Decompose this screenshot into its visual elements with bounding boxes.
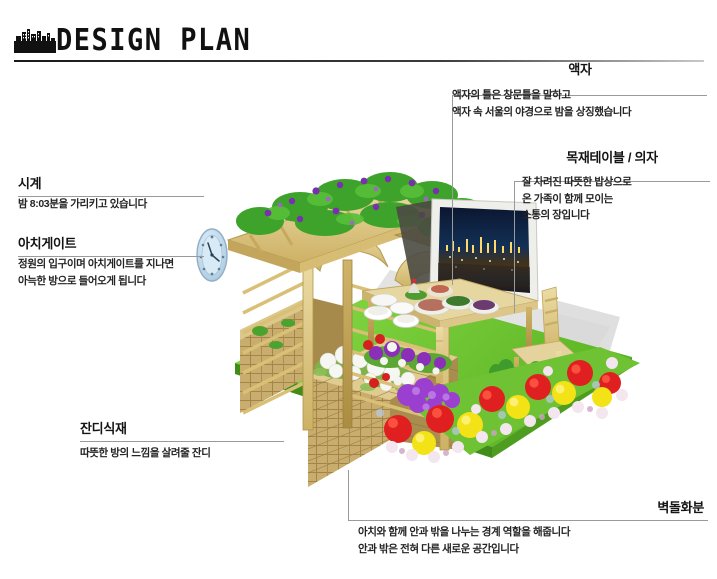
page-title: DESIGN PLAN <box>56 23 251 58</box>
annotation-lawn: 잔디식재 따뜻한 방의 느낌을 살려줄 잔디 <box>80 421 290 462</box>
city-skyline-icon <box>14 27 56 53</box>
annotation-brick-planter-body: 아치와 함께 안과 밖을 나누는 경계 역할을 해줍니다 안과 밖은 전혀 다른… <box>348 524 708 557</box>
annotation-clock-body: 밤 8:03분을 가리키고 있습니다 <box>18 196 208 212</box>
annotation-clock-heading: 시계 <box>18 176 208 192</box>
design-plan-slide: DESIGN PLAN <box>0 0 717 579</box>
annotation-picture-frame-body: 액자의 틀은 창문틀을 말하고 액자 속 서울의 야경으로 밤을 상징했습니다 <box>452 87 708 120</box>
annotation-wooden-table-body: 잘 차려진 따뜻한 밥상으로 온 가족이 함께 모이는 소통의 장입니다 <box>514 174 710 223</box>
annotation-brick-planter-heading: 벽돌화분 <box>348 500 708 516</box>
annotation-brick-planter: 벽돌화분 아치와 함께 안과 밖을 나누는 경계 역할을 해줍니다 안과 밖은 … <box>348 500 708 557</box>
annotation-clock: 시계 밤 8:03분을 가리키고 있습니다 <box>18 176 208 213</box>
annotation-arch-gate-body: 정원의 입구이며 아치게이트를 지나면 아늑한 방으로 들어오게 됩니다 <box>18 256 213 289</box>
annotation-lawn-heading: 잔디식재 <box>80 421 290 437</box>
annotation-arch-gate-heading: 아치게이트 <box>18 236 213 252</box>
leader-frame-drop <box>452 95 453 285</box>
annotation-arch-gate: 아치게이트 정원의 입구이며 아치게이트를 지나면 아늑한 방으로 들어오게 됩… <box>18 236 213 289</box>
annotation-lawn-body: 따뜻한 방의 느낌을 살려줄 잔디 <box>80 445 290 461</box>
annotation-wooden-table: 목재테이블 / 의자 잘 차려진 따뜻한 밥상으로 온 가족이 함께 모이는 소… <box>514 150 710 223</box>
header: DESIGN PLAN <box>0 14 717 54</box>
annotation-picture-frame: 액자 액자의 틀은 창문틀을 말하고 액자 속 서울의 야경으로 밤을 상징했습… <box>452 62 708 120</box>
annotation-picture-frame-heading: 액자 <box>452 62 708 78</box>
annotation-wooden-table-heading: 목재테이블 / 의자 <box>514 150 710 166</box>
